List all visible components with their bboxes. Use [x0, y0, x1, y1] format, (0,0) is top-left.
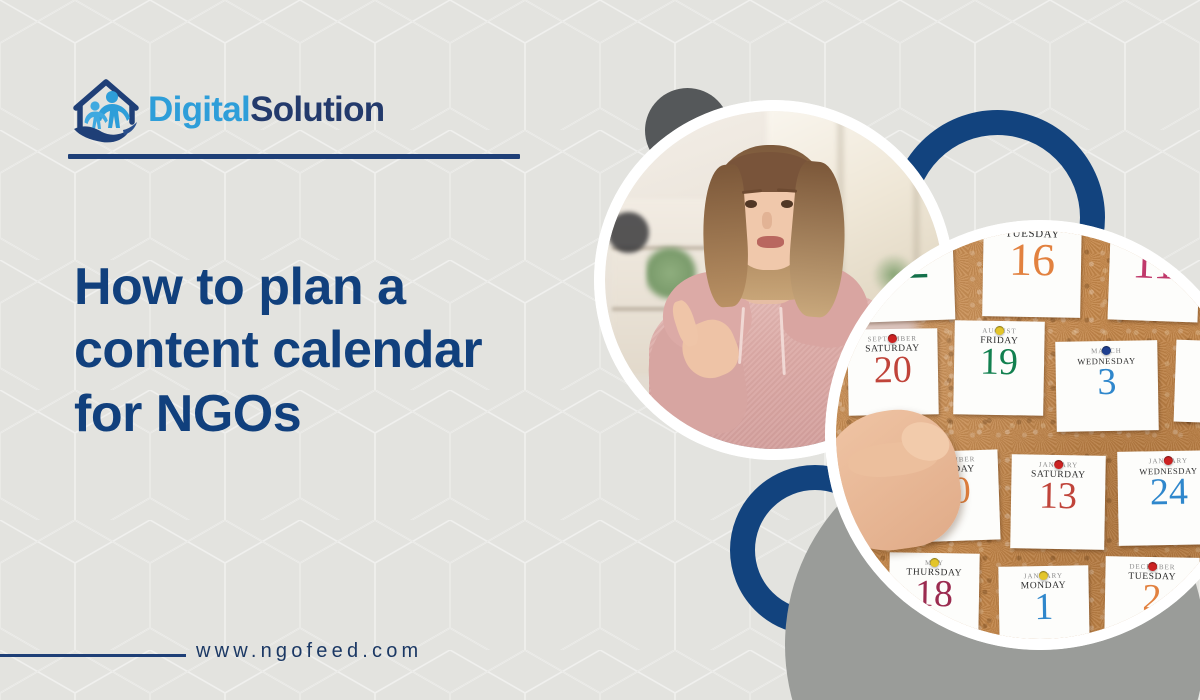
brand-name-solution: Solution [250, 90, 384, 129]
calendar-card: 11 [1108, 234, 1200, 323]
card-number: 16 [983, 237, 1082, 282]
headline-line-1: How to plan a [74, 256, 619, 319]
banner-stage: 12 TUESDAY 16 11 SEPTEMBER [0, 0, 1200, 700]
logo-divider-rule [68, 154, 520, 159]
brand-wordmark: DigitalSolution [148, 92, 384, 127]
house-family-hand-icon [68, 72, 144, 146]
card-number: 19 [954, 343, 1044, 381]
calendar-card: 12 [859, 238, 956, 323]
calendar-card: SEPTEMBER SATURDAY 20 [847, 328, 938, 415]
headline-line-2: content calendar [74, 319, 619, 382]
page-title: How to plan a content calendar for NGOs [74, 256, 619, 446]
card-number: 3 [1056, 363, 1159, 401]
card-number: 13 [1011, 478, 1105, 516]
card-number: 11 [1109, 240, 1200, 287]
calendar-card: JANUARY SATURDAY 13 [1011, 455, 1106, 550]
photo-calendar-board: 12 TUESDAY 16 11 SEPTEMBER [825, 220, 1200, 650]
headline-line-3: for NGOs [74, 383, 619, 446]
card-number: 1 [999, 588, 1089, 626]
calendar-card: SAT 6 [1173, 340, 1200, 424]
card-number: 20 [848, 351, 938, 389]
card-number: 6 [1174, 354, 1200, 393]
calendar-card: DECEMBER TUESDAY 2 [1105, 557, 1200, 639]
calendar-card: TUESDAY 16 [982, 231, 1082, 318]
calendar-card: MARCH WEDNESDAY 3 [1056, 340, 1160, 432]
calendar-card: AUGUST FRIDAY 19 [954, 320, 1045, 415]
card-number: 12 [859, 240, 954, 287]
text-column: DigitalSolution How to plan a content ca… [0, 0, 620, 700]
visual-composition: 12 TUESDAY 16 11 SEPTEMBER [560, 0, 1200, 700]
brand-logo[interactable]: DigitalSolution [68, 72, 384, 146]
card-number: 24 [1117, 473, 1200, 511]
calendar-card: JANUARY WEDNESDAY 24 [1117, 450, 1200, 546]
pin-icon [1039, 570, 1048, 579]
card-number: 2 [1105, 580, 1199, 618]
website-url[interactable]: www.ngofeed.com [196, 640, 422, 663]
brand-name-digital: Digital [148, 90, 250, 129]
footer-divider-rule [0, 654, 186, 657]
calendar-card: MAY THURSDAY 18 [888, 553, 979, 639]
pin-icon [1163, 456, 1172, 465]
calendar-card: JANUARY MONDAY 1 [998, 565, 1089, 639]
card-number: 18 [889, 576, 979, 614]
